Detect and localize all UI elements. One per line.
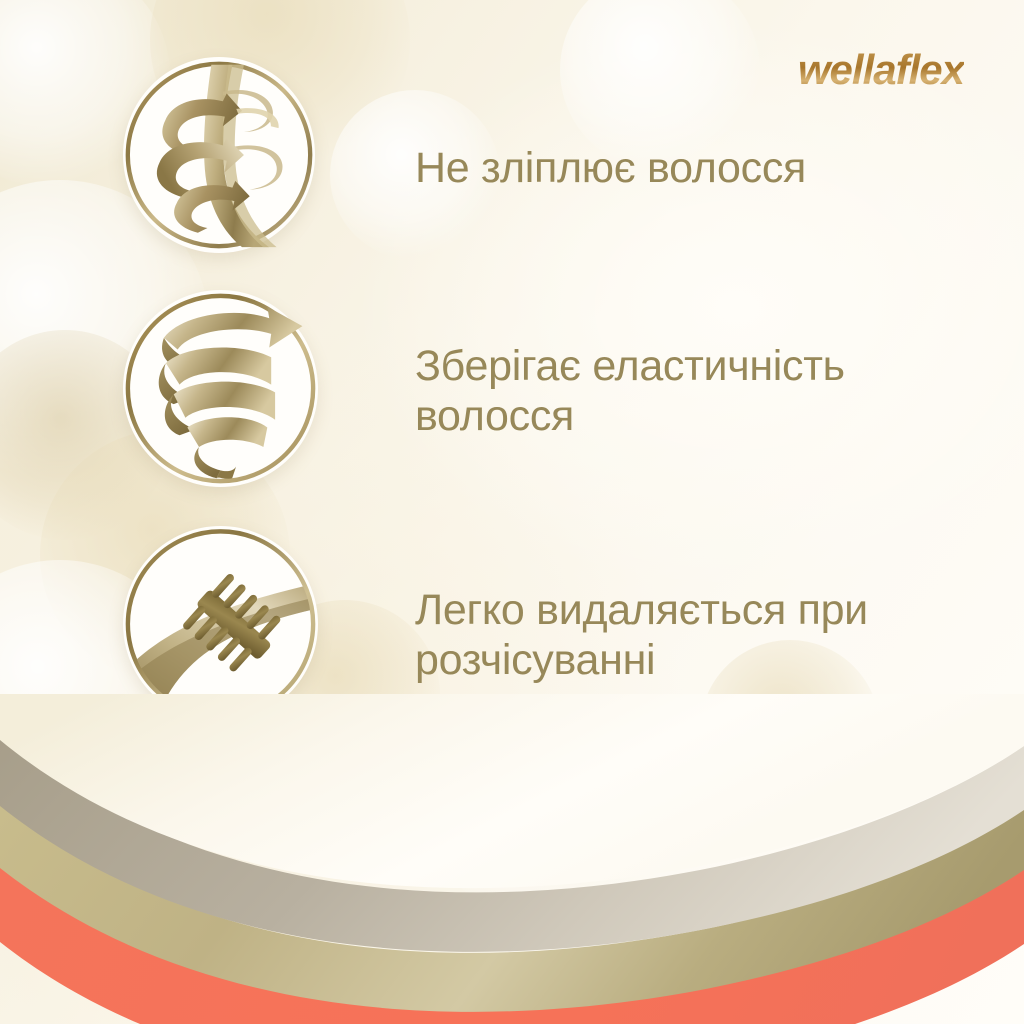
feature-label-2: Зберігає еластичність волосся — [415, 342, 960, 442]
feature-label-1: Не зліплює волосся — [415, 144, 955, 194]
feature-icon-circle-2 — [123, 290, 318, 487]
promo-banner: wellaflex — [0, 0, 1024, 1024]
feature-icon-circle-3 — [123, 526, 318, 722]
feature-label-3: Легко видаляється при розчісуванні — [415, 586, 935, 686]
comb-through-hair-icon — [123, 526, 318, 722]
hair-strand-ribbon-icon — [123, 57, 315, 253]
bottom-wave-decoration — [0, 694, 1024, 1024]
spiral-spring-arrow-icon — [123, 290, 318, 487]
feature-icon-circle-1 — [123, 57, 315, 253]
brand-logo: wellaflex — [798, 46, 964, 94]
